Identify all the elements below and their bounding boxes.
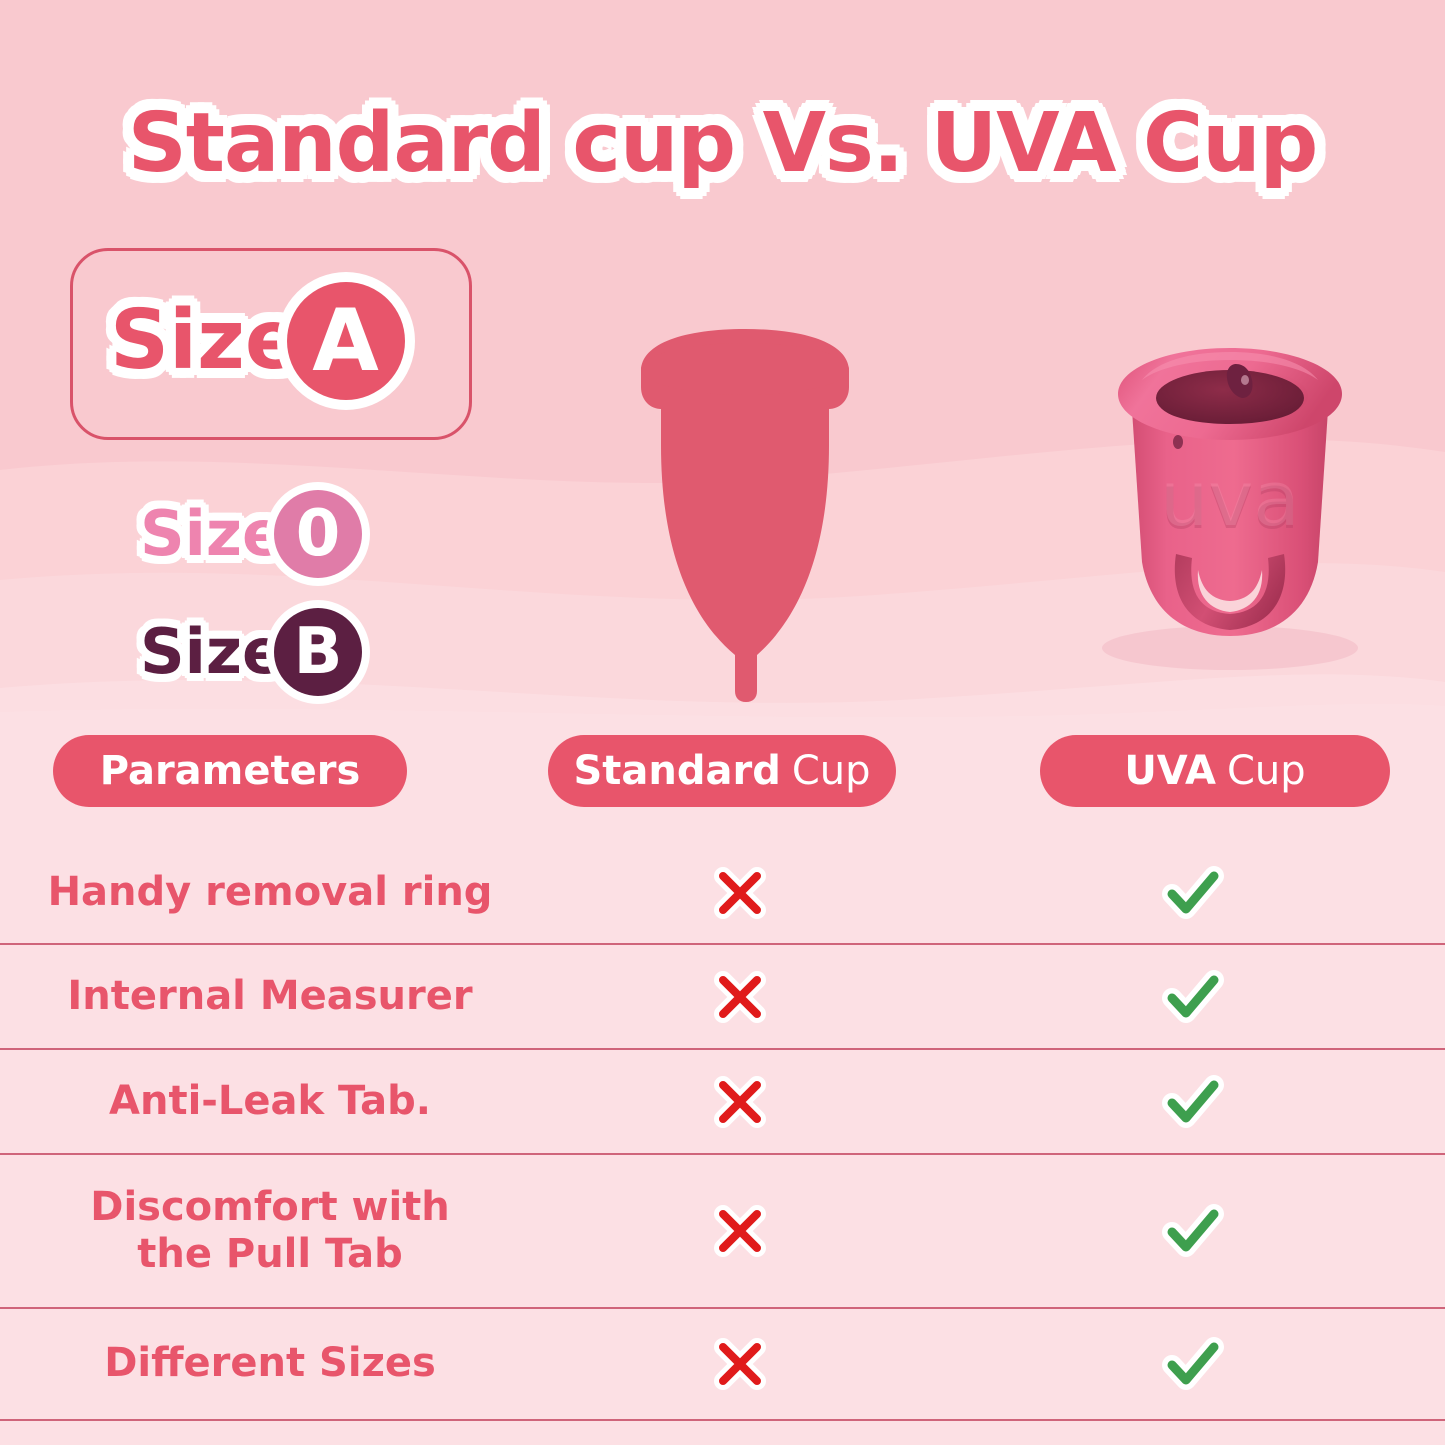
- table-row: Different Sizes: [0, 1309, 1445, 1421]
- cross-icon: [713, 1337, 767, 1391]
- size-a-label: Size: [110, 300, 301, 382]
- cell-uva: [940, 1336, 1445, 1392]
- check-icon: [1162, 1336, 1224, 1392]
- cross-icon: [713, 866, 767, 920]
- header-parameters-label: Parameters: [100, 748, 361, 794]
- size-a-circle: A: [287, 282, 405, 400]
- cell-uva: [940, 1074, 1445, 1130]
- header-uva-strong: UVA: [1124, 748, 1216, 794]
- page-title-text: Standard cup Vs. UVA Cup: [128, 96, 1318, 191]
- cell-standard: [540, 1204, 940, 1258]
- header-standard-strong: Standard: [573, 748, 780, 794]
- table-row: Internal Measurer: [0, 945, 1445, 1050]
- cell-standard: [540, 970, 940, 1024]
- cell-uva: [940, 969, 1445, 1025]
- cell-standard: [540, 1075, 940, 1129]
- uva-cup-image: uva uva: [1080, 318, 1380, 683]
- row-label: Different Sizes: [0, 1340, 540, 1387]
- size-badge-a[interactable]: Size A: [110, 282, 405, 400]
- size-b-circle: B: [274, 608, 362, 696]
- cross-icon: [713, 1075, 767, 1129]
- header-parameters: Parameters: [53, 735, 407, 807]
- table-row: Handy removal ring: [0, 843, 1445, 945]
- row-label: Anti-Leak Tab.: [0, 1078, 540, 1125]
- check-icon: [1162, 865, 1224, 921]
- header-uva-cup: UVA Cup: [1040, 735, 1390, 807]
- header-standard-cup: Standard Cup: [548, 735, 896, 807]
- size-badge-0[interactable]: Size 0: [140, 490, 362, 578]
- svg-text:uva: uva: [1160, 454, 1300, 543]
- header-uva-light: Cup: [1227, 748, 1306, 794]
- size-badge-b[interactable]: Size B: [140, 608, 362, 696]
- check-icon: [1162, 1203, 1224, 1259]
- cross-icon: [713, 970, 767, 1024]
- size-b-label: Size: [140, 621, 284, 683]
- row-label: Handy removal ring: [0, 869, 540, 916]
- row-label: Discomfort with the Pull Tab: [0, 1184, 540, 1278]
- standard-cup-image: [615, 325, 875, 720]
- table-row: Anti-Leak Tab.: [0, 1050, 1445, 1155]
- size-0-circle: 0: [274, 490, 362, 578]
- check-icon: [1162, 969, 1224, 1025]
- table-header-row: Parameters Standard Cup UVA Cup: [0, 735, 1445, 820]
- cell-standard: [540, 1337, 940, 1391]
- header-standard-light: Cup: [792, 748, 871, 794]
- cell-uva: [940, 865, 1445, 921]
- table-body: Handy removal ring Internal Measurer: [0, 843, 1445, 1421]
- check-icon: [1162, 1074, 1224, 1130]
- cross-icon: [713, 1204, 767, 1258]
- cell-uva: [940, 1203, 1445, 1259]
- size-0-label: Size: [140, 503, 284, 565]
- page-title: Standard cup Vs. UVA Cup: [0, 96, 1445, 191]
- table-row: Discomfort with the Pull Tab: [0, 1155, 1445, 1309]
- cell-standard: [540, 866, 940, 920]
- row-label: Internal Measurer: [0, 973, 540, 1020]
- comparison-table: Parameters Standard Cup UVA Cup Handy re…: [0, 735, 1445, 820]
- infographic-canvas: Standard cup Vs. UVA Cup Size A Size 0 S…: [0, 0, 1445, 1445]
